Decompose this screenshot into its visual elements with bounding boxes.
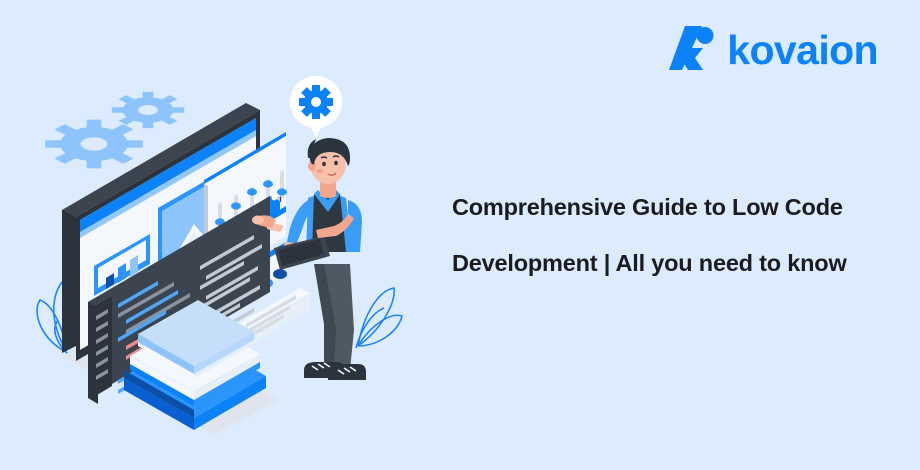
kovaion-k-mark-icon — [669, 26, 715, 75]
brand-wordmark: kovaion — [727, 30, 878, 71]
leaf-decoration-right — [356, 288, 402, 348]
headline-line-2: Development | All you need to know — [452, 252, 892, 276]
gear-speech-bubble — [290, 76, 342, 138]
page-title: Comprehensive Guide to Low Code Developm… — [452, 196, 892, 275]
banner-canvas: kovaion Comprehensive Guide to Low Code … — [0, 0, 920, 470]
brand-lockup[interactable]: kovaion — [669, 26, 878, 75]
headline-line-1: Comprehensive Guide to Low Code — [452, 196, 892, 220]
isometric-low-code-development-illustration: Aa | Aa | Aa — [18, 40, 438, 440]
